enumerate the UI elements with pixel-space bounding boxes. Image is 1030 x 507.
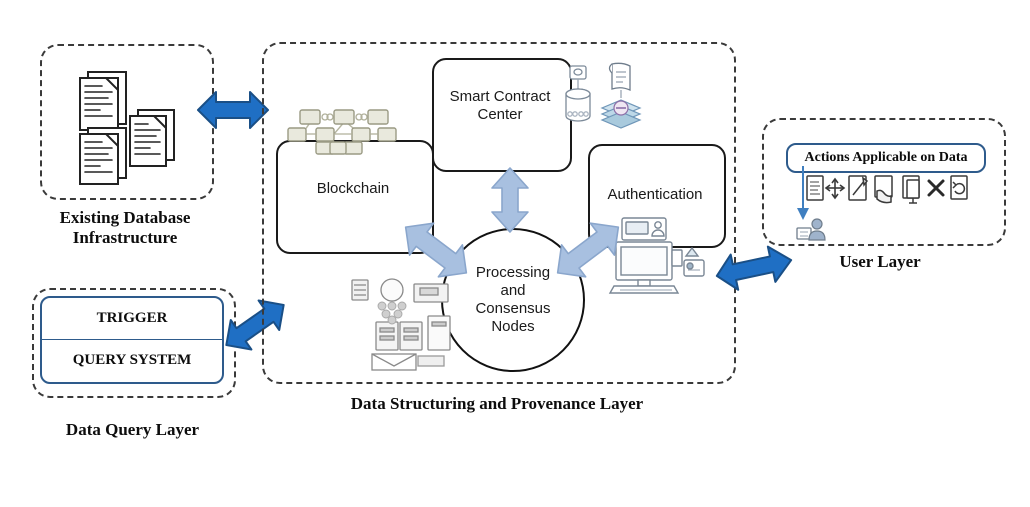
data-structuring-layer-label: Data Structuring and Provenance Layer (282, 394, 712, 414)
trigger-label: TRIGGER (97, 310, 168, 326)
existing-database-label-line1: Existing Database (30, 208, 220, 228)
connector-actions-to-user-arrow (794, 166, 816, 222)
actions-applicable-box[interactable]: Actions Applicable on Data (786, 143, 986, 173)
user-layer-label: User Layer (770, 252, 990, 272)
authentication-label: Authentication (584, 186, 726, 204)
smart-contract-center-label: Smart Contract Center (428, 88, 572, 124)
query-system-box: TRIGGER QUERY SYSTEM (40, 296, 224, 384)
smart-contract-center-label-line1: Smart Contract (428, 88, 572, 106)
connector-blockchain-to-center-arrow (396, 214, 476, 286)
trigger-row[interactable]: TRIGGER (42, 298, 222, 340)
blockchain-network-icon (286, 104, 400, 156)
architecture-diagram: Existing Database Infrastructure TRIGGER… (0, 0, 1030, 507)
query-system-row[interactable]: QUERY SYSTEM (42, 340, 222, 381)
smart-contract-icon (560, 60, 646, 144)
query-system-label: QUERY SYSTEM (73, 352, 192, 368)
user-lock-icon (796, 216, 830, 242)
blockchain-label: Blockchain (276, 180, 430, 198)
connector-auth-to-center-arrow (548, 214, 628, 286)
documents-stack-icon (62, 62, 194, 182)
actions-applicable-label: Actions Applicable on Data (788, 145, 984, 171)
existing-database-label-line2: Infrastructure (30, 228, 220, 248)
data-query-layer-label: Data Query Layer (30, 420, 235, 440)
action-icons-row (805, 173, 975, 207)
smart-contract-center-label-line2: Center (428, 106, 572, 124)
server-cluster-icon (348, 276, 470, 372)
existing-database-label: Existing Database Infrastructure (30, 208, 220, 248)
connector-contract-to-center-arrow (486, 166, 534, 234)
connector-db-to-structuring-arrow (196, 86, 270, 134)
